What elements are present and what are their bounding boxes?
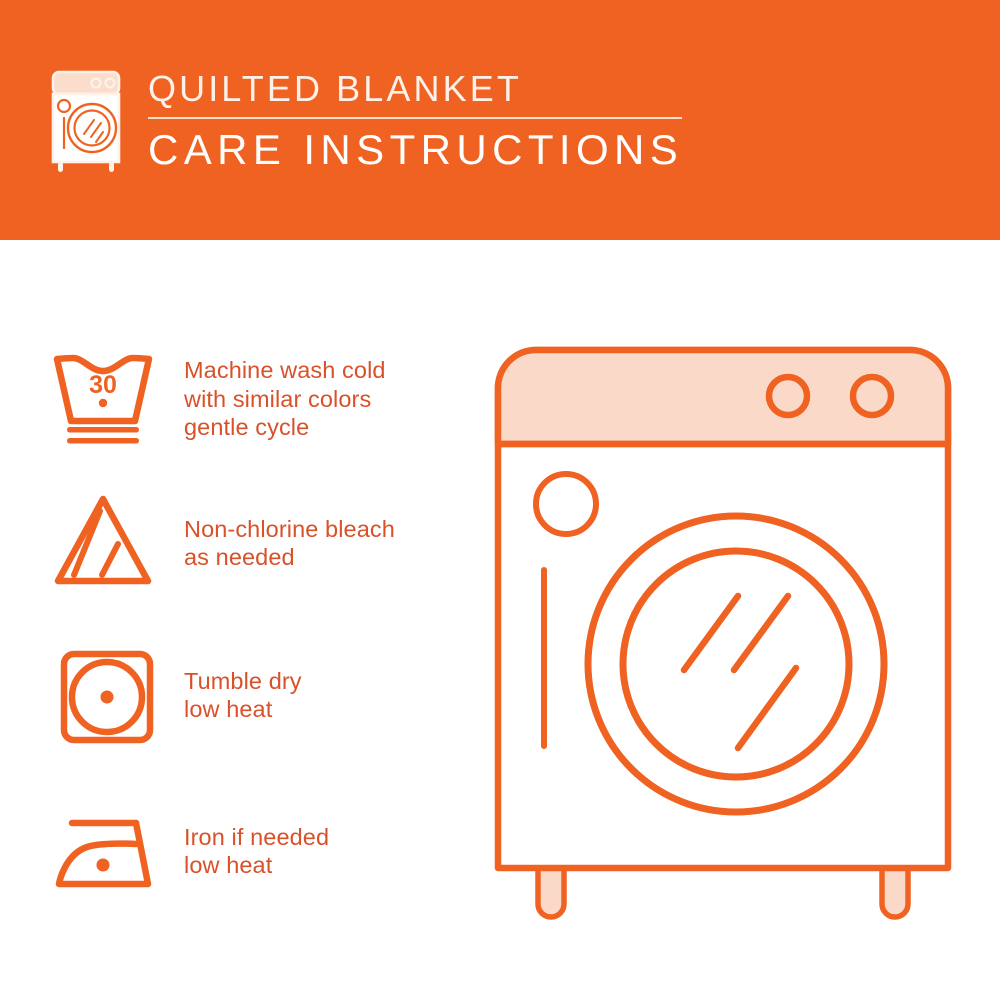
care-item-iron: Iron if needed low heat [0, 792, 470, 910]
care-text-line: gentle cycle [184, 413, 386, 442]
care-item-text: Machine wash cold with similar colors ge… [184, 356, 386, 442]
care-text-line: Iron if needed [184, 823, 329, 852]
header-title-group: QUILTED BLANKET CARE INSTRUCTIONS [148, 68, 708, 175]
non-chlorine-bleach-triangle-icon [42, 484, 172, 602]
care-item-machine-wash: 30 Machine wash cold with similar colors… [0, 340, 470, 458]
wash-tub-30-gentle-icon: 30 [42, 340, 172, 458]
care-text-line: Non-chlorine bleach [184, 515, 395, 544]
wash-temperature-label: 30 [89, 371, 117, 399]
care-item-text: Non-chlorine bleach as needed [184, 515, 395, 572]
leg-right [882, 868, 908, 917]
tumble-dry-low-heat-icon [42, 636, 172, 754]
iron-low-heat-icon [42, 792, 172, 910]
care-text-line: low heat [184, 851, 329, 880]
page-title: QUILTED BLANKET [148, 68, 708, 110]
care-text-line: as needed [184, 543, 395, 572]
control-panel [498, 350, 948, 444]
care-text-line: Tumble dry [184, 667, 302, 696]
leg-left [538, 868, 564, 917]
care-item-tumble-dry: Tumble dry low heat [0, 636, 470, 754]
page-subtitle: CARE INSTRUCTIONS [148, 125, 708, 175]
front-load-washing-machine-illustration [488, 328, 958, 928]
care-text-line: low heat [184, 695, 302, 724]
washing-machine-icon [44, 68, 136, 178]
care-instruction-list: 30 Machine wash cold with similar colors… [0, 240, 470, 1000]
care-item-text: Tumble dry low heat [184, 667, 302, 724]
care-item-bleach: Non-chlorine bleach as needed [0, 484, 470, 602]
title-divider [148, 117, 682, 119]
care-text-line: with similar colors [184, 385, 386, 414]
care-text-line: Machine wash cold [184, 356, 386, 385]
care-item-text: Iron if needed low heat [184, 823, 329, 880]
header-banner: QUILTED BLANKET CARE INSTRUCTIONS [0, 0, 1000, 240]
